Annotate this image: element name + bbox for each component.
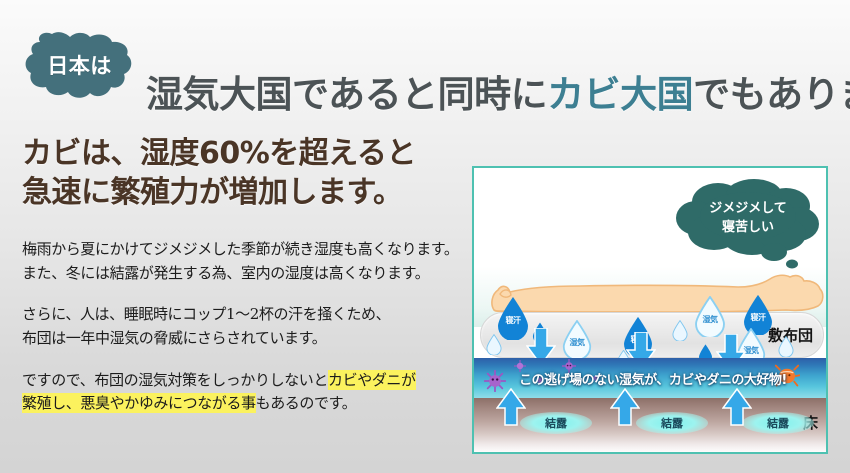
highlighted-text: 繁殖し、悪臭やかゆみにつながる事 [22,393,256,413]
left-content-column: カビは、湿度60%を超えると 急速に繁殖力が増加します。 梅雨から夏にかけてジメ… [22,134,462,416]
condensation-spot: 結露 [520,412,592,434]
thought-bubble-line-2: 寝苦しい [692,219,804,238]
paragraph-line: また、冬には結露が発生する為、室内の湿度は高くなります。 [22,262,462,286]
paragraph-line: 布団は一年中湿気の脅威にさらされています。 [22,327,462,351]
drop-label: 湿気 [694,296,726,337]
paragraph-line: さらに、人は、睡眠時にコップ1〜2杯の汗を掻くため、 [22,303,462,327]
condensation-spot: 結露 [636,412,708,434]
up-arrow-icon [610,388,640,426]
moisture-drop-small [778,336,794,357]
sweat-drop-small [486,334,502,355]
drop-label: 湿気 [562,320,592,359]
arrow-up-shape [496,388,526,426]
condensation-spot: 結露 [742,412,814,434]
paragraph-text: ですので、布団の湿気対策をしっかりしないと [22,371,328,389]
thought-bubble-line-1: ジメジメして [692,200,804,219]
header-title-accent: カビ大国 [547,73,693,116]
arrow-up-shape [610,388,640,426]
page-title: 湿気大国であると同時にカビ大国でもあります。 [146,64,850,118]
paragraph: ですので、布団の湿気対策をしっかりしないとカビやダニが 繁殖し、悪臭やかゆみにつ… [22,369,462,416]
paragraph-line: ですので、布団の湿気対策をしっかりしないとカビやダニが [22,369,462,393]
header-banner: 日本は 湿気大国であると同時にカビ大国でもあります。 [0,24,850,104]
body-copy: 梅雨から夏にかけてジメジメした季節が続き湿度も高くなります。 また、冬には結露が… [22,238,462,416]
up-arrow-icon [722,388,752,426]
condensation-label: 結露 [545,415,567,431]
water-drop-icon [778,336,794,357]
moisture-drop: 湿気 [694,296,726,337]
trapped-moisture-band: この逃げ場のない湿気が、カビやダニの大好物! [474,358,826,398]
germ-message: この逃げ場のない湿気が、カビやダニの大好物! [474,358,826,398]
main-heading-line-2: 急速に繁殖力が増加します。 [22,173,462,212]
main-heading: カビは、湿度60%を超えると 急速に繁殖力が増加します。 [22,134,462,212]
sleeping-person-illustration [480,264,828,316]
japan-map-badge: 日本は [22,28,137,102]
main-heading-line-1: カビは、湿度60%を超えると [22,134,462,173]
condensation-label: 結露 [661,415,683,431]
highlighted-text: カビやダニが [328,370,416,390]
paragraph: 梅雨から夏にかけてジメジメした季節が続き湿度も高くなります。 また、冬には結露が… [22,238,462,285]
floor-area: 床 結露 結露 結露 [474,398,826,452]
water-drop-icon [672,320,688,341]
thought-bubble-text: ジメジメして 寝苦しい [692,200,804,238]
paragraph-line: 梅雨から夏にかけてジメジメした季節が続き湿度も高くなります。 [22,238,462,262]
sleeping-person-shape [480,264,828,316]
thought-bubble: ジメジメして 寝苦しい [670,178,822,270]
moisture-drop: 湿気 [562,320,592,359]
paragraph-text: もあるのです。 [256,394,357,412]
moisture-drop-small [672,320,688,341]
header-title-part-1: 湿気大国であると同時に [146,73,547,116]
arrow-up-shape [722,388,752,426]
japan-badge-label: 日本は [22,28,137,102]
paragraph: さらに、人は、睡眠時にコップ1〜2杯の汗を掻くため、 布団は一年中湿気の脅威にさ… [22,303,462,350]
water-drop-icon [486,334,502,355]
paragraph-line: 繁殖し、悪臭やかゆみにつながる事もあるのです。 [22,392,462,416]
header-title-part-2: でもあります。 [693,73,850,116]
up-arrow-icon [496,388,526,426]
condensation-label: 結露 [767,415,789,431]
illustration-panel: ジメジメして 寝苦しい 敷布団 寝汗 湿気 寝汗 湿 [472,166,828,454]
